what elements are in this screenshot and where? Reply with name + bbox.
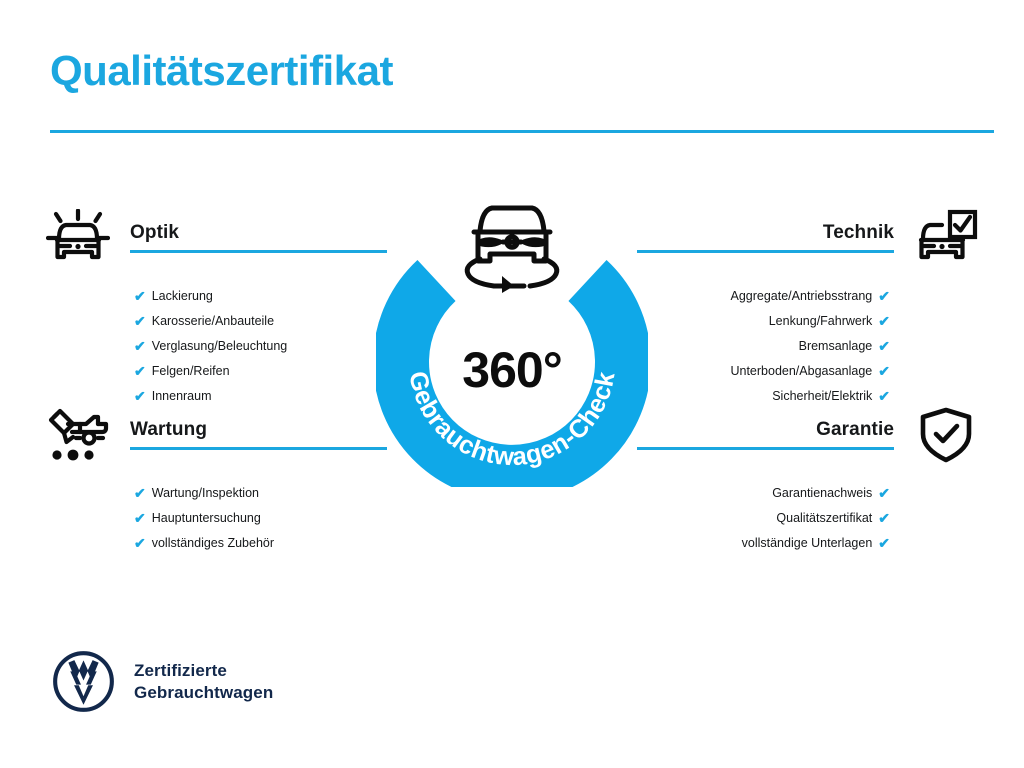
list-item-label: vollständige Unterlagen (742, 537, 873, 550)
pencil-car-icon (42, 404, 114, 466)
list-item-label: Qualitätszertifikat (776, 512, 872, 525)
page-title: Qualitätszertifikat (50, 48, 994, 94)
list-item-label: Lenkung/Fahrwerk (769, 315, 873, 328)
check-icon: ✔ (134, 536, 146, 550)
vw-logo-text: Zertifizierte Gebrauchtwagen (134, 660, 273, 704)
check-icon: ✔ (878, 389, 890, 403)
list-item: Garantienachweis✔ (637, 486, 982, 500)
section-header-optik: Optik (42, 207, 387, 273)
list-item: ✔Hauptuntersuchung (42, 511, 387, 525)
list-item: vollständige Unterlagen✔ (637, 536, 982, 550)
section-garantie: Garantie Garantienachweis✔ Qualitätszert… (637, 404, 982, 561)
checklist-garantie: Garantienachweis✔ Qualitätszertifikat✔ v… (637, 486, 982, 550)
vw-logo-text-line1: Zertifizierte (134, 660, 273, 682)
list-item-label: Bremsanlage (799, 340, 873, 353)
list-item: Lenkung/Fahrwerk✔ (637, 314, 982, 328)
section-title-wrap-wartung: Wartung (130, 420, 387, 450)
checklist-technik: Aggregate/Antriebsstrang✔ Lenkung/Fahrwe… (637, 289, 982, 403)
list-item: Sicherheit/Elektrik✔ (637, 389, 982, 403)
list-item-label: Lackierung (152, 290, 213, 303)
list-item-label: Unterboden/Abgasanlage (730, 365, 872, 378)
check-icon: ✔ (134, 289, 146, 303)
section-title-wrap-garantie: Garantie (637, 420, 894, 450)
list-item-label: vollständiges Zubehör (152, 537, 274, 550)
list-item: Qualitätszertifikat✔ (637, 511, 982, 525)
list-item: ✔Felgen/Reifen (42, 364, 387, 378)
checklist-wartung: ✔Wartung/Inspektion ✔Hauptuntersuchung ✔… (42, 486, 387, 550)
list-item-label: Innenraum (152, 390, 212, 403)
list-item-label: Aggregate/Antriebsstrang (731, 290, 873, 303)
list-item: Bremsanlage✔ (637, 339, 982, 353)
section-underline (130, 250, 387, 253)
section-header-technik: Technik (637, 207, 982, 273)
vw-logo-text-line2: Gebrauchtwagen (134, 682, 273, 704)
list-item-label: Karosserie/Anbauteile (152, 315, 274, 328)
list-item: Aggregate/Antriebsstrang✔ (637, 289, 982, 303)
car-checkbox-icon (910, 207, 982, 269)
section-title: Wartung (130, 420, 387, 441)
page-header: Qualitätszertifikat (50, 48, 994, 133)
section-title: Garantie (637, 420, 894, 441)
badge-degrees-label: 360° (376, 341, 648, 399)
section-header-garantie: Garantie (637, 404, 982, 470)
check-icon: ✔ (878, 486, 890, 500)
list-item: ✔Innenraum (42, 389, 387, 403)
check-icon: ✔ (878, 314, 890, 328)
check-icon: ✔ (134, 511, 146, 525)
section-title-wrap-technik: Technik (637, 223, 894, 253)
vw-logo-lockup: Zertifizierte Gebrauchtwagen (52, 650, 273, 713)
list-item-label: Sicherheit/Elektrik (772, 390, 872, 403)
section-optik: Optik ✔Lackierung ✔Karosserie/Anbauteile… (42, 207, 387, 414)
list-item-label: Wartung/Inspektion (152, 487, 259, 500)
list-item: ✔Wartung/Inspektion (42, 486, 387, 500)
checklist-optik: ✔Lackierung ✔Karosserie/Anbauteile ✔Verg… (42, 289, 387, 403)
list-item: ✔vollständiges Zubehör (42, 536, 387, 550)
section-technik: Technik Aggregate/Antriebsstrang✔ Lenkun… (637, 207, 982, 414)
check-icon: ✔ (878, 511, 890, 525)
360-check-badge: Gebrauchtwagen-Check 360° (376, 201, 648, 487)
list-item: ✔Lackierung (42, 289, 387, 303)
check-icon: ✔ (134, 389, 146, 403)
check-icon: ✔ (134, 314, 146, 328)
section-wartung: Wartung ✔Wartung/Inspektion ✔Hauptunters… (42, 404, 387, 561)
check-icon: ✔ (878, 536, 890, 550)
shield-check-icon (910, 404, 982, 466)
check-icon: ✔ (134, 486, 146, 500)
section-underline (637, 447, 894, 450)
list-item: Unterboden/Abgasanlage✔ (637, 364, 982, 378)
list-item-label: Hauptuntersuchung (152, 512, 261, 525)
section-header-wartung: Wartung (42, 404, 387, 470)
section-title-wrap-optik: Optik (130, 223, 387, 253)
check-icon: ✔ (134, 339, 146, 353)
list-item: ✔Verglasung/Beleuchtung (42, 339, 387, 353)
header-divider (50, 130, 994, 133)
vw-logo-icon (52, 650, 115, 713)
section-underline (637, 250, 894, 253)
section-underline (130, 447, 387, 450)
section-title: Optik (130, 223, 387, 244)
list-item-label: Felgen/Reifen (152, 365, 230, 378)
check-icon: ✔ (878, 364, 890, 378)
car-rotation-icon (452, 201, 572, 293)
list-item-label: Garantienachweis (772, 487, 872, 500)
car-shine-icon (42, 207, 114, 269)
list-item: ✔Karosserie/Anbauteile (42, 314, 387, 328)
list-item-label: Verglasung/Beleuchtung (152, 340, 288, 353)
check-icon: ✔ (878, 289, 890, 303)
check-icon: ✔ (878, 339, 890, 353)
section-title: Technik (637, 223, 894, 244)
check-icon: ✔ (134, 364, 146, 378)
